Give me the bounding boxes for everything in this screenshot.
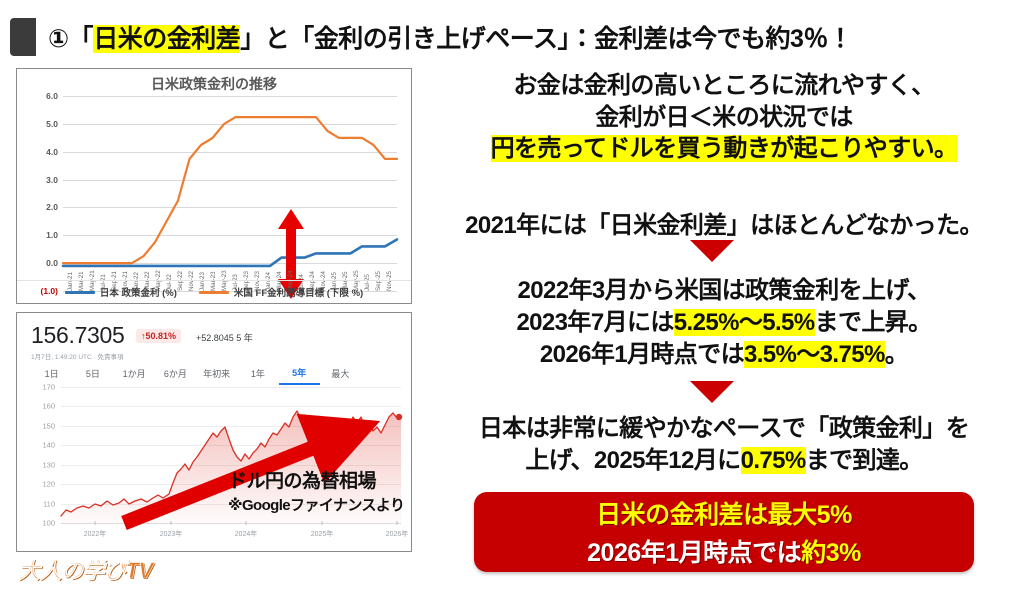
fx-ytick-160: 160 <box>42 402 55 411</box>
summary-callout-box: 日米の金利差は最大5% 2026年1月時点では約3% <box>474 492 974 572</box>
fx-ytick-170: 170 <box>42 383 55 392</box>
headline-accent-bar <box>10 18 36 56</box>
down-arrow-icon-1 <box>690 240 734 262</box>
legend-swatch-icon <box>199 291 229 294</box>
us-line-3-pre: 2026年1月時点では <box>540 341 744 368</box>
chart1-ytick-6: 6.0 <box>46 91 58 101</box>
chart1-series-japan <box>63 240 397 266</box>
slide-root: ①「日米の金利差」と「金利の引き上げペース」：金利差は今でも約3％！ 日米政策金… <box>0 0 1024 591</box>
fx-xtick: 2023年 <box>160 529 183 539</box>
jp-line-2-pre: 上げ、2025年12月に <box>525 447 740 474</box>
chart1-ytick-0: 0.0 <box>46 258 58 268</box>
flow-line-3: 円を売ってドルを買う動きが起こりやすい。 <box>424 133 1024 165</box>
chart1-ytick-5: 5.0 <box>46 119 58 129</box>
us-line-2-post: まで上昇。 <box>815 309 932 336</box>
channel-watermark: 大人の学びTV <box>18 553 153 585</box>
fx-ytick-100: 100 <box>42 519 55 528</box>
chart1-series-svg <box>63 96 397 291</box>
fx-xtick-mark <box>322 521 323 525</box>
fx-range-tabs[interactable]: 1日 5日 1か月 6か月 年初来 1年 5年 最大 <box>31 363 361 385</box>
us-line-1: 2022年3月から米国は政策金利を上げ、 <box>424 275 1024 307</box>
text-block-japan-hikes: 日本は非常に緩やかなペースで「政策金利」を 上げ、2025年12月に0.75%ま… <box>424 413 1024 477</box>
legend-swatch-icon <box>65 291 95 294</box>
flow-line-2: 金利が日＜米の状況では <box>424 102 1024 134</box>
fx-annotation-title: ドル円の為替相場 <box>228 466 404 493</box>
text-block-us-hikes: 2022年3月から米国は政策金利を上げ、 2023年7月には5.25%〜5.5%… <box>424 275 1024 371</box>
policy-rate-chart-card: 日米政策金利の推移 6.0 5.0 4.0 3.0 2.0 1.0 0.0 (1… <box>16 68 412 304</box>
headline-quote-open: 「 <box>69 25 94 53</box>
fx-change-absolute: +52.8045 5 年 <box>196 331 253 344</box>
down-arrow-icon-2 <box>690 381 734 403</box>
tab-5day[interactable]: 5日 <box>72 364 113 384</box>
flow-line-1: お金は金利の高いところに流れやすく、 <box>424 70 1024 102</box>
chart1-title: 日米政策金利の推移 <box>17 74 411 94</box>
text-block-2021: 2021年には「日米金利差」はほとんどなかった。 <box>424 205 1024 240</box>
fx-xtick-mark <box>95 521 96 525</box>
page-title: ①「日米の金利差」と「金利の引き上げペース」：金利差は今でも約3％！ <box>48 19 852 55</box>
fx-ytick-140: 140 <box>42 441 55 450</box>
fx-xtick-mark <box>246 521 247 525</box>
fx-xtick-mark <box>171 521 172 525</box>
tab-ytd[interactable]: 年初来 <box>196 364 237 384</box>
chart1-ytick-4: 4.0 <box>46 147 58 157</box>
fx-xtick: 2024年 <box>235 529 258 539</box>
flow-line-3-highlight: 円を売ってドルを買う動きが起こりやすい。 <box>491 135 958 162</box>
legend-item-us: 米国 FF金利誘導目標 (下限 %) <box>199 285 363 299</box>
legend-item-japan: 日本 政策金利 (%) <box>65 285 177 299</box>
tab-1year[interactable]: 1年 <box>237 364 278 384</box>
fx-xtick: 2025年 <box>311 529 334 539</box>
fx-ytick-130: 130 <box>42 460 55 469</box>
tab-1day[interactable]: 1日 <box>31 364 72 384</box>
tab-max[interactable]: 最大 <box>320 364 361 384</box>
text-block-flow: お金は金利の高いところに流れやすく、 金利が日＜米の状況では 円を売ってドルを買… <box>424 70 1024 165</box>
legend-label-japan: 日本 政策金利 (%) <box>100 285 177 299</box>
fx-x-axis: 2022年 2023年 2024年 2025年 2026年 <box>61 525 401 541</box>
fx-xtick-mark <box>397 521 398 525</box>
chart1-ytick-3: 3.0 <box>46 175 58 185</box>
fx-ytick-120: 120 <box>42 480 55 489</box>
summary-line-1: 日米の金利差は最大5% <box>596 495 852 531</box>
us-line-2: 2023年7月には5.25%〜5.5%まで上昇。 <box>424 307 1024 339</box>
chart1-plot-area: 6.0 5.0 4.0 3.0 2.0 1.0 0.0 (1.0) <box>63 96 397 291</box>
fx-ytick-150: 150 <box>42 421 55 430</box>
fx-annotation-source: ※Googleファイナンスより <box>228 494 404 515</box>
us-line-2-pre: 2023年7月には <box>516 309 673 336</box>
jp-line-2-post: まで到達。 <box>806 447 923 474</box>
us-line-3: 2026年1月時点では3.5%〜3.75%。 <box>424 339 1024 371</box>
fx-xtick: 2026年 <box>386 529 409 539</box>
fx-timestamp: 1月7日, 1:49:20 UTC · 免責事項 <box>31 351 123 361</box>
us-line-2-rate: 5.25%〜5.5% <box>674 309 815 336</box>
tab-6month[interactable]: 6か月 <box>155 364 196 384</box>
fx-ytick-110: 110 <box>43 499 55 508</box>
jp-line-1: 日本は非常に緩やかなペースで「政策金利」を <box>424 413 1024 445</box>
legend-label-us: 米国 FF金利誘導目標 (下限 %) <box>234 285 363 299</box>
jp-line-2-rate: 0.75% <box>741 447 806 474</box>
chart1-legend: 日本 政策金利 (%) 米国 FF金利誘導目標 (下限 %) <box>17 280 411 299</box>
fx-last-point-marker <box>396 414 402 420</box>
summary-line-2: 2026年1月時点では約3% <box>587 533 861 569</box>
tab-1month[interactable]: 1か月 <box>114 364 155 384</box>
fx-annotation: ドル円の為替相場 ※Googleファイナンスより <box>228 466 404 515</box>
tab-5year[interactable]: 5年 <box>279 363 320 385</box>
summary-line-2-pre: 2026年1月時点では <box>587 539 801 567</box>
us-line-3-rate: 3.5%〜3.75% <box>744 341 885 368</box>
headline-highlight: 日米の金利差 <box>93 25 240 53</box>
chart1-series-us <box>63 117 397 263</box>
usdjpy-chart-card: 156.7305 ↑50.81% +52.8045 5 年 1月7日, 1:49… <box>16 312 412 552</box>
jp-line-2: 上げ、2025年12月に0.75%まで到達。 <box>424 445 1024 477</box>
headline-number: ① <box>48 25 69 53</box>
chart1-ytick-2: 2.0 <box>46 202 58 212</box>
chart1-ytick-1: 1.0 <box>46 230 58 240</box>
fx-xtick: 2022年 <box>84 529 107 539</box>
us-line-3-post: 。 <box>885 341 908 368</box>
headline-rest: 」と「金利の引き上げペース」：金利差は今でも約3％！ <box>240 25 852 53</box>
summary-line-2-value: 約3% <box>801 539 861 567</box>
fx-change-badge: ↑50.81% <box>136 329 181 343</box>
headline: ①「日米の金利差」と「金利の引き上げペース」：金利差は今でも約3％！ <box>0 14 1024 60</box>
fx-price: 156.7305 <box>31 322 125 349</box>
